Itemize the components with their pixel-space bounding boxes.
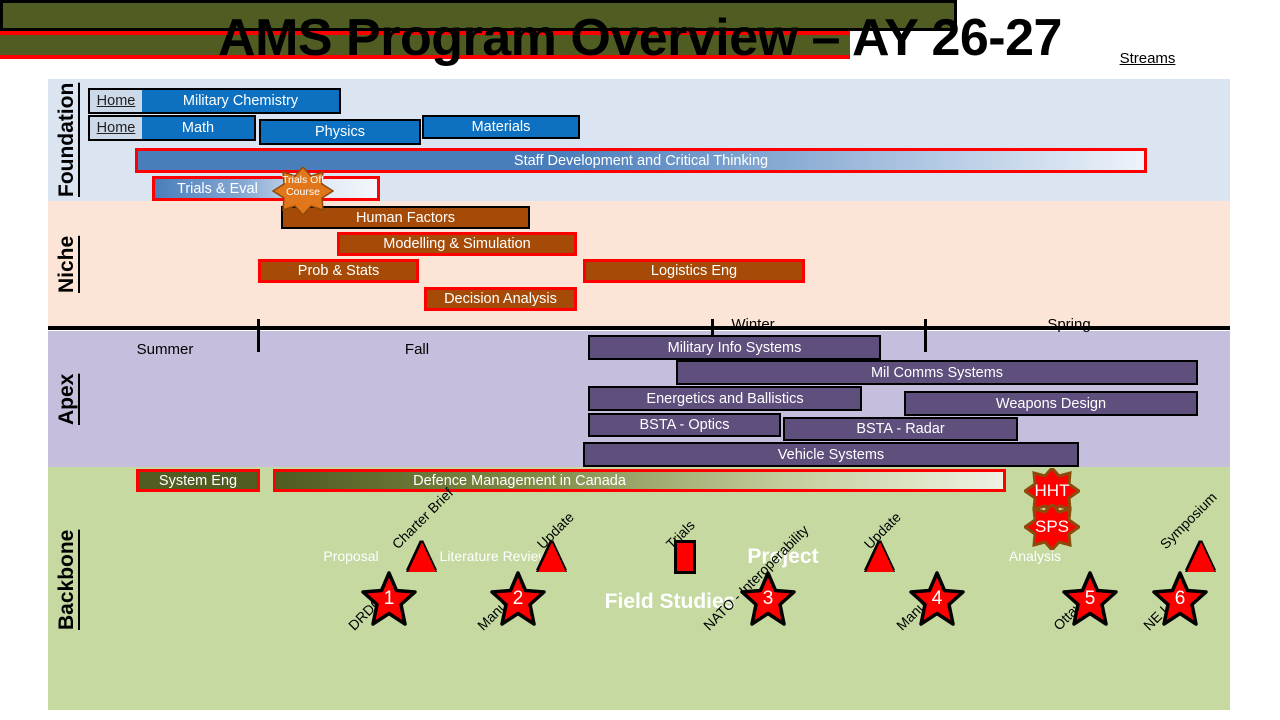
row-label-apex: Apex xyxy=(50,332,84,466)
row-label-niche: Niche xyxy=(50,202,84,326)
visit-number-6: 6 xyxy=(1152,588,1208,610)
season-tick-3 xyxy=(924,319,927,352)
season-label-spring: Spring xyxy=(1009,316,1129,333)
event-sps-label: SPS xyxy=(1024,517,1080,537)
season-tick-1 xyxy=(257,319,260,352)
visit-star-5[interactable]: 5 xyxy=(1062,571,1118,627)
bar-bsta-radar[interactable]: BSTA - Radar xyxy=(783,417,1018,441)
milestone-marker-charter-brief[interactable] xyxy=(408,542,436,572)
bar-physics[interactable]: Physics xyxy=(259,119,421,145)
bar-trials-and-eval[interactable]: Trials & Eval xyxy=(152,176,380,201)
milestone-marker-trials[interactable] xyxy=(674,540,696,574)
milestone-marker-update-2[interactable] xyxy=(866,542,894,572)
bar-prob-stats[interactable]: Prob & Stats xyxy=(258,259,419,283)
milestone-marker-symposium[interactable] xyxy=(1187,542,1215,572)
milestone-marker-update-1[interactable] xyxy=(538,542,566,572)
row-label-foundation: Foundation xyxy=(50,80,84,200)
bar-energetics-ballistics[interactable]: Energetics and Ballistics xyxy=(588,386,862,411)
visit-star-4[interactable]: 4 xyxy=(909,571,965,627)
legend-heading: Streams xyxy=(1070,50,1225,67)
bar-decision-analysis[interactable]: Decision Analysis xyxy=(424,287,577,311)
bar-materials[interactable]: Materials xyxy=(422,115,580,139)
bar-modelling-simulation[interactable]: Modelling & Simulation xyxy=(337,232,577,256)
bar-weapons-design[interactable]: Weapons Design xyxy=(904,391,1198,416)
row-label-backbone: Backbone xyxy=(50,500,84,660)
visit-number-1: 1 xyxy=(361,588,417,610)
home-link-math[interactable]: Home xyxy=(90,117,142,139)
season-label-fall: Fall xyxy=(357,341,477,358)
burst-label: Trials Off Course xyxy=(272,174,334,198)
visit-star-2[interactable]: 2 xyxy=(490,571,546,627)
visit-number-4: 4 xyxy=(909,588,965,610)
visit-star-3[interactable]: 3 xyxy=(740,571,796,627)
burst-trials-off-course: Trials Off Course xyxy=(272,167,334,215)
season-label-winter: Winter xyxy=(693,316,813,333)
visit-number-3: 3 xyxy=(740,588,796,610)
home-link-chemistry[interactable]: Home xyxy=(90,90,142,112)
bar-bsta-optics[interactable]: BSTA - Optics xyxy=(588,413,781,437)
bar-mil-comms-systems[interactable]: Mil Comms Systems xyxy=(676,360,1198,385)
project-phase-analysis: Analysis xyxy=(985,548,1085,564)
bar-vehicle-systems[interactable]: Vehicle Systems xyxy=(583,442,1079,467)
visit-star-1[interactable]: 1 xyxy=(361,571,417,627)
bar-defence-management[interactable]: Defence Management in Canada xyxy=(273,469,1006,492)
bar-system-eng[interactable]: System Eng xyxy=(136,469,260,492)
bar-military-info-systems[interactable]: Military Info Systems xyxy=(588,335,881,360)
bar-logistics-eng[interactable]: Logistics Eng xyxy=(583,259,805,283)
visit-number-5: 5 xyxy=(1062,588,1118,610)
visit-star-6[interactable]: 6 xyxy=(1152,571,1208,627)
season-label-summer: Summer xyxy=(105,341,225,358)
visit-number-2: 2 xyxy=(490,588,546,610)
event-sps[interactable]: SPS xyxy=(1024,504,1080,550)
event-hht-label: HHT xyxy=(1024,481,1080,501)
project-phase-proposal: Proposal xyxy=(296,548,406,564)
